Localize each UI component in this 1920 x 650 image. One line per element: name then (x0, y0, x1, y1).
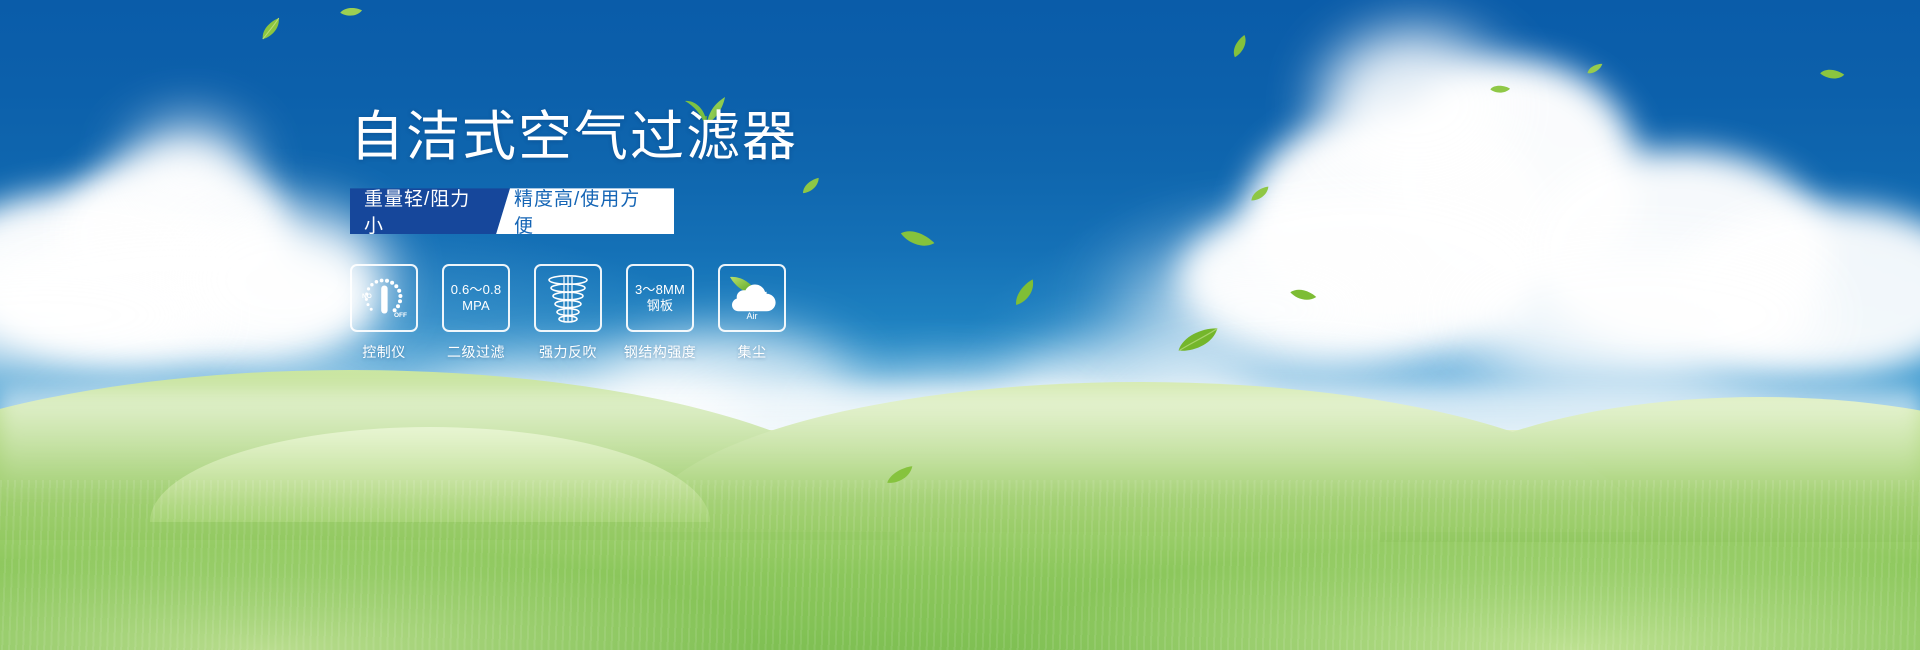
pressure-range: 0.6～0.8 (451, 282, 502, 297)
feature-item[interactable]: 0.6～0.8 MPA 二级过滤 (442, 264, 510, 362)
feature-icon-box (534, 264, 602, 332)
feature-icon-box: 3～8MM 钢板 (626, 264, 694, 332)
feature-label: 钢结构强度 (624, 342, 697, 362)
grass-texture (0, 480, 1920, 650)
feature-list: NO OFF 控制仪 0.6～0.8 MPA 二级过滤 (350, 264, 1070, 362)
cloud-shape (1320, 30, 1510, 180)
feature-label: 二级过滤 (447, 342, 505, 362)
svg-text:NO: NO (362, 293, 372, 300)
feature-icon-box: NO OFF (350, 264, 418, 332)
feature-label: 控制仪 (362, 342, 406, 362)
cloud-shape (1450, 245, 1830, 385)
steel-material: 钢板 (635, 298, 685, 314)
feature-label: 集尘 (738, 342, 767, 362)
pressure-unit: MPA (451, 298, 502, 314)
steel-thickness: 3～8MM (635, 282, 685, 297)
tag-weight-resistance: 重量轻/阻力小 (350, 188, 510, 234)
tag-precision-convenience: 精度高/使用方便 (496, 188, 674, 234)
feature-item[interactable]: 强力反吹 (534, 264, 602, 362)
feature-item[interactable]: 3～8MM 钢板 钢结构强度 (626, 264, 694, 362)
pressure-text-icon: 0.6～0.8 MPA (451, 282, 502, 315)
feature-label: 强力反吹 (539, 342, 597, 362)
steel-plate-text-icon: 3～8MM 钢板 (635, 282, 685, 315)
dial-gauge-icon: NO OFF (355, 271, 413, 325)
cloud-shape (130, 120, 250, 215)
cloud-air-icon: Air (724, 275, 780, 321)
cloud-air-label: Air (747, 311, 758, 321)
coil-blowback-icon (543, 272, 593, 324)
hero-banner: 自洁式空气过滤器 重量轻/阻力小 精度高/使用方便 (0, 0, 1920, 650)
page-title: 自洁式空气过滤器 (350, 108, 1070, 166)
feature-icon-box: Air (718, 264, 786, 332)
feature-item[interactable]: Air 集尘 (718, 264, 786, 362)
banner-content: 自洁式空气过滤器 重量轻/阻力小 精度高/使用方便 (350, 108, 1070, 362)
feature-item[interactable]: NO OFF 控制仪 (350, 264, 418, 362)
grass-glow (0, 390, 1920, 500)
svg-text:OFF: OFF (394, 312, 407, 319)
tag-group: 重量轻/阻力小 精度高/使用方便 (350, 188, 674, 234)
feature-icon-box: 0.6～0.8 MPA (442, 264, 510, 332)
